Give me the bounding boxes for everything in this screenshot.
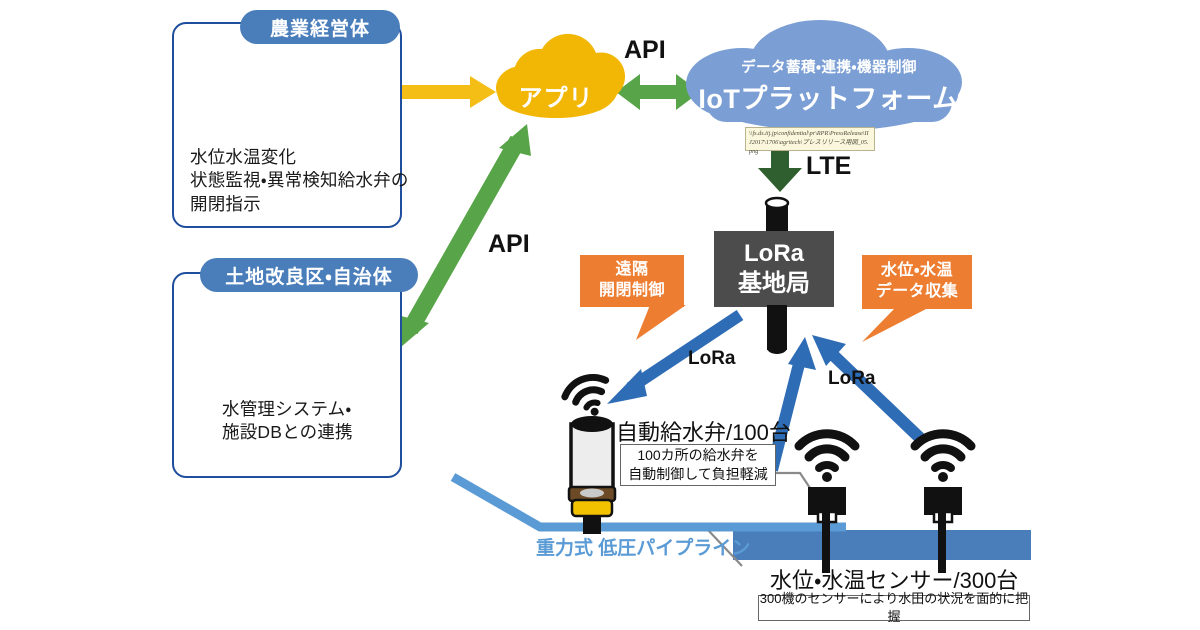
valve-note: 100カ所の給水弁を 自動制御して負担軽減	[620, 444, 776, 486]
arrow-sensor1-to-lora	[772, 337, 816, 470]
valve-title: 自動給水弁/100台	[616, 415, 791, 447]
iot-cloud-shape	[686, 20, 962, 131]
sensor1-wifi-icon	[799, 434, 855, 482]
label-api-top: API	[624, 36, 666, 65]
base-station-pole	[767, 305, 787, 354]
callout-remote-line2: 開閉制御	[599, 281, 665, 302]
diagram-canvas: 農業経営体 水位水温変化 状態監視・異常検知給水弁の 開閉指示 土地改良区・自治…	[0, 0, 1200, 630]
label-lora-right: LoRa	[828, 368, 876, 390]
pipeline-label: 重力式 低圧パイプライン	[536, 533, 750, 560]
label-api-left: API	[488, 230, 530, 259]
callout-data-collection[interactable]: 水位・水温 データ収集	[862, 255, 972, 309]
automatic-valve-device	[561, 371, 616, 534]
panel-badge-land-district: 土地改良区・自治体	[200, 258, 418, 292]
panel-land-district[interactable]	[172, 272, 402, 478]
label-lte: LTE	[806, 152, 851, 181]
base-station-box	[714, 231, 834, 307]
callout-remote-line1: 遠隔	[615, 260, 648, 281]
app-cloud-shape	[496, 34, 625, 118]
panel-caption-farm-operator: 水位水温変化 状態監視・異常検知給水弁の 開閉指示	[190, 146, 420, 216]
panel-caption-land-district: 水管理システム・ 施設DBとの連携	[222, 398, 452, 445]
label-lora-left: LoRa	[688, 348, 736, 370]
water-body	[733, 505, 1031, 560]
callout-tail-data	[862, 308, 928, 342]
base-station-antenna	[766, 198, 788, 234]
arrow-farm-to-app	[398, 76, 496, 108]
valve-wifi-icon	[561, 371, 616, 423]
callout-data-line2: データ収集	[876, 282, 959, 303]
panel-badge-farm-operator: 農業経営体	[240, 10, 400, 44]
callout-tail-remote	[636, 305, 686, 340]
sensor2-wifi-icon	[915, 434, 971, 482]
file-path-tooltip: \\fs.ds.iij.jp\confidential\pr\RPR\Press…	[745, 127, 875, 151]
callout-data-line1: 水位・水温	[881, 261, 953, 282]
sensor-note: 300機のセンサーにより水田の状況を面的に把握	[758, 595, 1030, 621]
callout-remote-control[interactable]: 遠隔 開閉制御	[580, 255, 684, 307]
